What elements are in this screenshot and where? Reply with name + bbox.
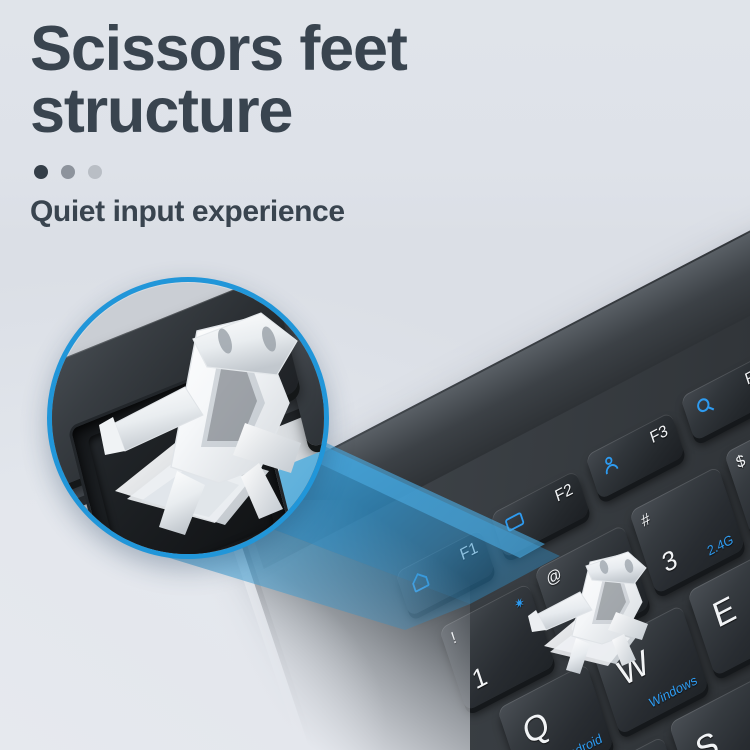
key-s-label: S bbox=[675, 697, 750, 750]
key-4-label: 4 bbox=[739, 452, 750, 528]
product-marketing-banner: F1 F2 F3 F4 bbox=[0, 0, 750, 750]
key-e-label: E bbox=[692, 561, 750, 645]
pagination-dot-3[interactable] bbox=[88, 165, 102, 179]
search-icon bbox=[692, 390, 720, 426]
key-f4-label: F4 bbox=[743, 364, 750, 390]
key-q-label: Q bbox=[502, 678, 603, 750]
contacts-icon bbox=[597, 449, 625, 485]
key-f1[interactable]: F1 bbox=[395, 528, 495, 616]
page-subtitle: Quiet input experience bbox=[30, 195, 670, 229]
key-w-label: W bbox=[597, 620, 698, 704]
key-3-shift: # bbox=[639, 510, 653, 531]
key-f4[interactable]: F4 bbox=[680, 353, 750, 441]
key-w-sub: Windows bbox=[647, 672, 699, 711]
display-icon bbox=[502, 507, 530, 543]
key-f3[interactable]: F3 bbox=[585, 411, 685, 499]
home-icon bbox=[407, 566, 435, 602]
key-3-sub: 2.4G bbox=[705, 531, 735, 558]
page-title: Scissors feet structure bbox=[30, 18, 670, 143]
bluetooth-icon: ✷ bbox=[625, 589, 640, 609]
pagination-dots[interactable] bbox=[34, 165, 670, 179]
magnifier-content: Shift bbox=[47, 277, 329, 559]
headline-block: Scissors feet structure Quiet input expe… bbox=[30, 18, 670, 229]
key-4-shift: $ bbox=[734, 452, 748, 473]
key-f3-label: F3 bbox=[648, 422, 670, 448]
key-f2[interactable]: F2 bbox=[490, 470, 590, 558]
magnifier-circle: Shift bbox=[47, 277, 329, 559]
key-f2-label: F2 bbox=[553, 481, 575, 507]
pagination-dot-1[interactable] bbox=[34, 165, 48, 179]
pagination-dot-2[interactable] bbox=[61, 165, 75, 179]
bluetooth-icon: ✷ bbox=[512, 594, 527, 614]
key-q-sub: Android bbox=[559, 730, 604, 750]
key-1-shift: ! bbox=[449, 629, 459, 648]
key-2-shift: @ bbox=[544, 565, 564, 590]
key-f1-label: F1 bbox=[458, 539, 480, 565]
